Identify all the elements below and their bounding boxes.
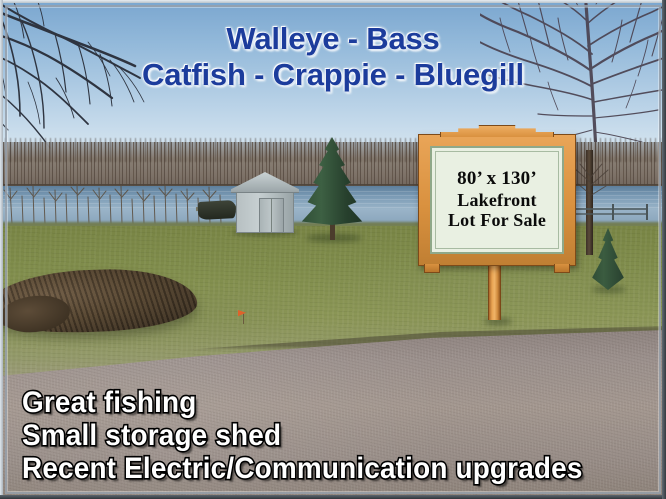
bare-tree-right-trunk (586, 150, 593, 255)
sign-foot-right (554, 264, 570, 273)
sign-panel: 80’ x 130’ Lakefront Lot For Sale (430, 146, 564, 254)
fence-post (612, 204, 614, 220)
flyer-image: 80’ x 130’ Lakefront Lot For Sale Walley… (0, 0, 666, 499)
boat (198, 200, 237, 220)
fence-post (646, 204, 648, 220)
sign-foot-left (424, 264, 440, 273)
sign-crown-trim (440, 125, 554, 137)
for-sale-sign[interactable]: 80’ x 130’ Lakefront Lot For Sale (414, 126, 584, 316)
sign-text-for-sale: Lot For Sale (448, 211, 546, 230)
sign-text-lakefront: Lakefront (457, 191, 536, 210)
sign-text-dimensions: 80’ x 130’ (457, 169, 537, 190)
sign-post (488, 260, 501, 320)
shed-door-seam (271, 198, 272, 233)
